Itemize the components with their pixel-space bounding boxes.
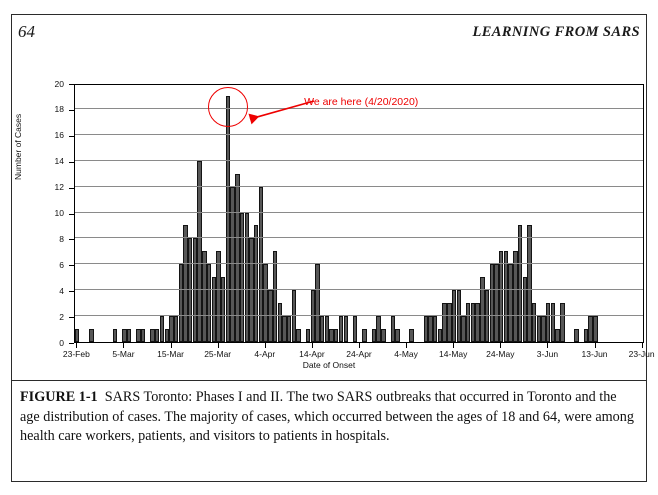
y-axis-tick <box>69 239 74 240</box>
y-axis-tick <box>69 317 74 318</box>
x-axis-tick-label: 23-Feb <box>63 349 90 359</box>
y-axis-tick <box>69 84 74 85</box>
gridline <box>75 289 643 290</box>
bar <box>574 329 578 342</box>
x-axis-tick-label: 4-May <box>394 349 418 359</box>
y-axis-tick-label: 0 <box>34 338 64 348</box>
y-axis-title: Number of Cases <box>13 114 23 180</box>
x-axis-tick <box>76 343 77 348</box>
bar <box>381 329 385 342</box>
x-axis-title: Date of Onset <box>11 360 647 370</box>
x-axis-tick <box>500 343 501 348</box>
figure-caption-label: FIGURE 1-1 <box>20 389 98 405</box>
x-axis-tick-label: 24-May <box>486 349 514 359</box>
y-axis-tick <box>69 188 74 189</box>
y-axis-tick-label: 2 <box>34 312 64 322</box>
bar-series <box>75 85 643 342</box>
we-are-here-label: We are here (4/20/2020) <box>304 96 418 108</box>
sars-epidemic-curve-chart: Number of Cases Date of Onset 0246810121… <box>11 60 647 380</box>
x-axis-tick-label: 4-Apr <box>254 349 275 359</box>
gridline <box>75 186 643 187</box>
x-axis-tick <box>359 343 360 348</box>
gridline <box>75 134 643 135</box>
y-axis-tick <box>69 214 74 215</box>
y-axis-tick <box>69 162 74 163</box>
y-axis-tick-label: 6 <box>34 260 64 270</box>
figure-page: 64 LEARNING FROM SARS Number of Cases Da… <box>0 0 658 495</box>
figure-caption: FIGURE 1-1 SARS Toronto: Phases I and II… <box>20 388 638 447</box>
bar <box>409 329 413 342</box>
gridline <box>75 237 643 238</box>
x-axis-tick-label: 3-Jun <box>537 349 558 359</box>
x-axis-tick <box>406 343 407 348</box>
y-axis-tick <box>69 343 74 344</box>
x-axis-tick <box>595 343 596 348</box>
x-axis-tick <box>123 343 124 348</box>
gridline <box>75 160 643 161</box>
x-axis-tick <box>265 343 266 348</box>
x-axis-tick-label: 24-Apr <box>346 349 372 359</box>
x-axis-tick-label: 25-Mar <box>204 349 231 359</box>
x-axis-tick-label: 14-May <box>439 349 467 359</box>
y-axis-tick-label: 4 <box>34 286 64 296</box>
x-axis-tick <box>312 343 313 348</box>
bar <box>353 316 357 342</box>
gridline <box>75 212 643 213</box>
figure-divider-rule <box>11 380 647 381</box>
y-axis-tick-label: 14 <box>34 156 64 166</box>
y-axis-tick <box>69 265 74 266</box>
x-axis-tick <box>171 343 172 348</box>
bar <box>113 329 117 342</box>
x-axis-tick-label: 5-Mar <box>112 349 134 359</box>
y-axis-tick-label: 10 <box>34 208 64 218</box>
bar <box>89 329 93 342</box>
bar <box>127 329 131 342</box>
bar <box>560 303 564 342</box>
y-axis-tick <box>69 110 74 111</box>
x-axis-tick-label: 23-Jun <box>629 349 655 359</box>
x-axis-tick-label: 14-Apr <box>299 349 325 359</box>
x-axis-tick-label: 15-Mar <box>157 349 184 359</box>
y-axis-tick-label: 12 <box>34 182 64 192</box>
gridline <box>75 315 643 316</box>
y-axis-tick-label: 16 <box>34 130 64 140</box>
bar <box>593 316 597 342</box>
x-axis-tick-label: 13-Jun <box>582 349 608 359</box>
y-axis-tick <box>69 291 74 292</box>
bar <box>395 329 399 342</box>
gridline <box>75 263 643 264</box>
bar <box>296 329 300 342</box>
x-axis-tick <box>453 343 454 348</box>
gridline <box>75 108 643 109</box>
bar <box>75 329 79 342</box>
x-axis-tick <box>547 343 548 348</box>
y-axis-tick <box>69 136 74 137</box>
plot-area <box>74 84 644 343</box>
figure-caption-text: SARS Toronto: Phases I and II. The two S… <box>20 389 634 444</box>
bar <box>344 316 348 342</box>
bar <box>141 329 145 342</box>
y-axis-tick-label: 18 <box>34 104 64 114</box>
y-axis-tick-label: 20 <box>34 79 64 89</box>
x-axis-tick <box>218 343 219 348</box>
bar <box>362 329 366 342</box>
x-axis-tick <box>642 343 643 348</box>
y-axis-tick-label: 8 <box>34 234 64 244</box>
